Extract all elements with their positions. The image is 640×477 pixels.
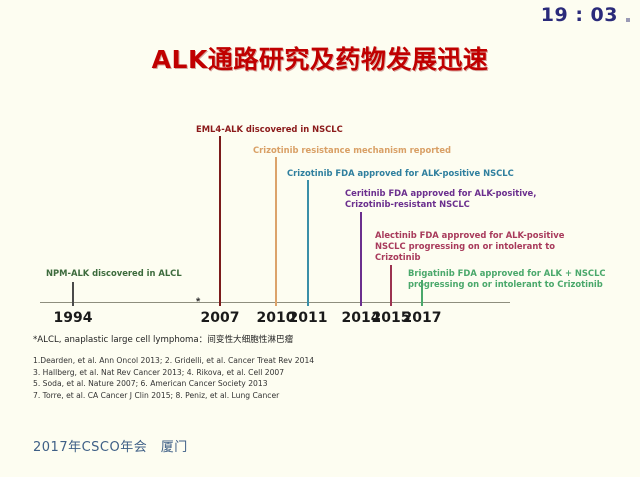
timeline-axis-tick: [219, 297, 221, 306]
timeline-event-line: [275, 157, 277, 302]
timeline-axis-tick: [307, 297, 309, 306]
timeline-event-label: Ceritinib FDA approved for ALK-positive,…: [345, 188, 536, 210]
reference-list: 1.Dearden, et al. Ann Oncol 2013; 2. Gri…: [33, 355, 314, 401]
timeline-axis-tick: [421, 297, 423, 306]
timeline-event-label: Crizotinib FDA approved for ALK-positive…: [287, 168, 514, 179]
slide-footer: 2017年CSCO年会 厦门: [33, 436, 188, 455]
reference-item: 1.Dearden, et al. Ann Oncol 2013; 2. Gri…: [33, 355, 314, 367]
timeline-axis-tick: [360, 297, 362, 306]
timeline-year-label: 2007: [201, 310, 240, 326]
timeline-year-label: 2011: [289, 310, 328, 326]
timeline-chart: * NPM-ALK discovered in ALCLEML4-ALK dis…: [0, 0, 640, 340]
timeline-event-label: EML4-ALK discovered in NSCLC: [196, 124, 343, 135]
timeline-event-label: Brigatinib FDA approved for ALK + NSCLC …: [408, 268, 606, 290]
reference-item: 7. Torre, et al. CA Cancer J Clin 2015; …: [33, 390, 314, 402]
timeline-event-label: Crizotinib resistance mechanism reported: [253, 145, 451, 156]
reference-item: 5. Soda, et al. Nature 2007; 6. American…: [33, 378, 314, 390]
timeline-axis-tick: [390, 297, 392, 306]
timeline-axis-tick: [72, 297, 74, 306]
timeline-year-label: 1994: [54, 310, 93, 326]
timeline-event-line: [360, 212, 362, 302]
presentation-slide: 19 : 03 ALK通路研究及药物发展迅速 * NPM-ALK discove…: [0, 0, 640, 477]
timeline-event-line: [307, 180, 309, 302]
timeline-year-label: 2017: [403, 310, 442, 326]
timeline-event-label: Alectinib FDA approved for ALK-positive …: [375, 230, 564, 263]
footnote-text: *ALCL, anaplastic large cell lymphoma：间变…: [33, 333, 293, 345]
reference-item: 3. Hallberg, et al. Nat Rev Cancer 2013;…: [33, 367, 314, 379]
footnote-asterisk-marker: *: [196, 296, 200, 308]
timeline-event-label: NPM-ALK discovered in ALCL: [46, 268, 182, 279]
timeline-event-line: [219, 136, 221, 302]
timeline-axis-tick: [275, 297, 277, 306]
